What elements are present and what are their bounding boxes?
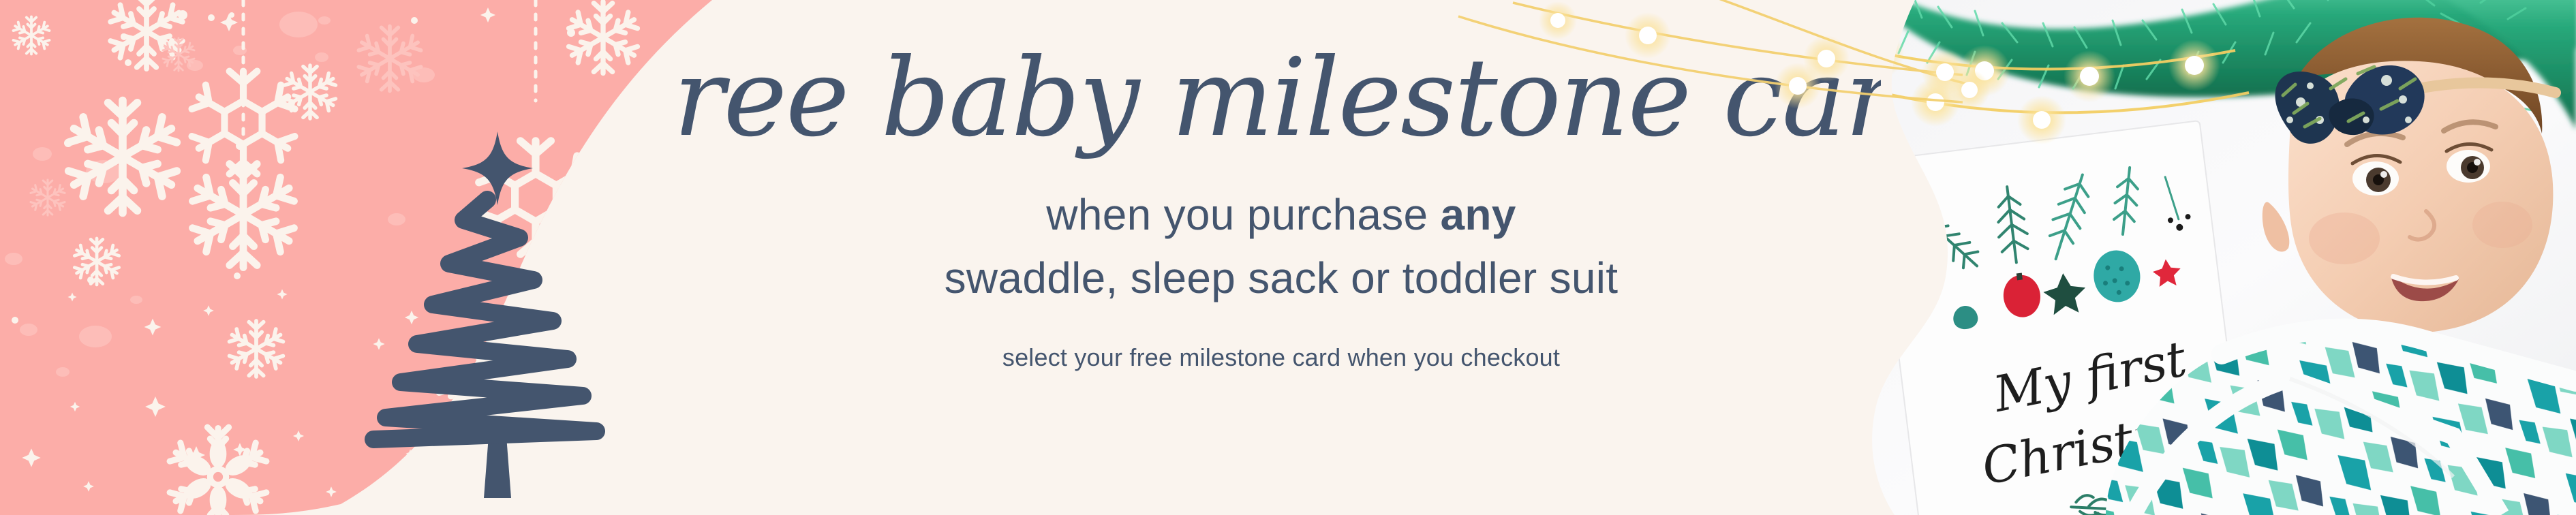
headline-wrap: Free baby milestone card bbox=[681, 19, 1881, 189]
promo-banner: Free baby milestone card when you purcha… bbox=[0, 0, 2576, 515]
subline-products: swaddle, sleep sack or toddler suit bbox=[945, 255, 1619, 301]
page-title: Free baby milestone card bbox=[681, 35, 1881, 161]
promo-text-block: Free baby milestone card when you purcha… bbox=[681, 0, 1881, 515]
fineprint-checkout: select your free milestone card when you… bbox=[1002, 343, 1560, 372]
subline-purchase: when you purchase any bbox=[1046, 192, 1516, 238]
subline-prefix: when you purchase bbox=[1046, 190, 1440, 239]
subline-emphasis: any bbox=[1441, 190, 1516, 239]
christmas-tree-icon bbox=[361, 119, 634, 501]
baby-milestone-photo: My first Christmas bbox=[1813, 0, 2576, 515]
star-topper-icon bbox=[462, 131, 533, 205]
